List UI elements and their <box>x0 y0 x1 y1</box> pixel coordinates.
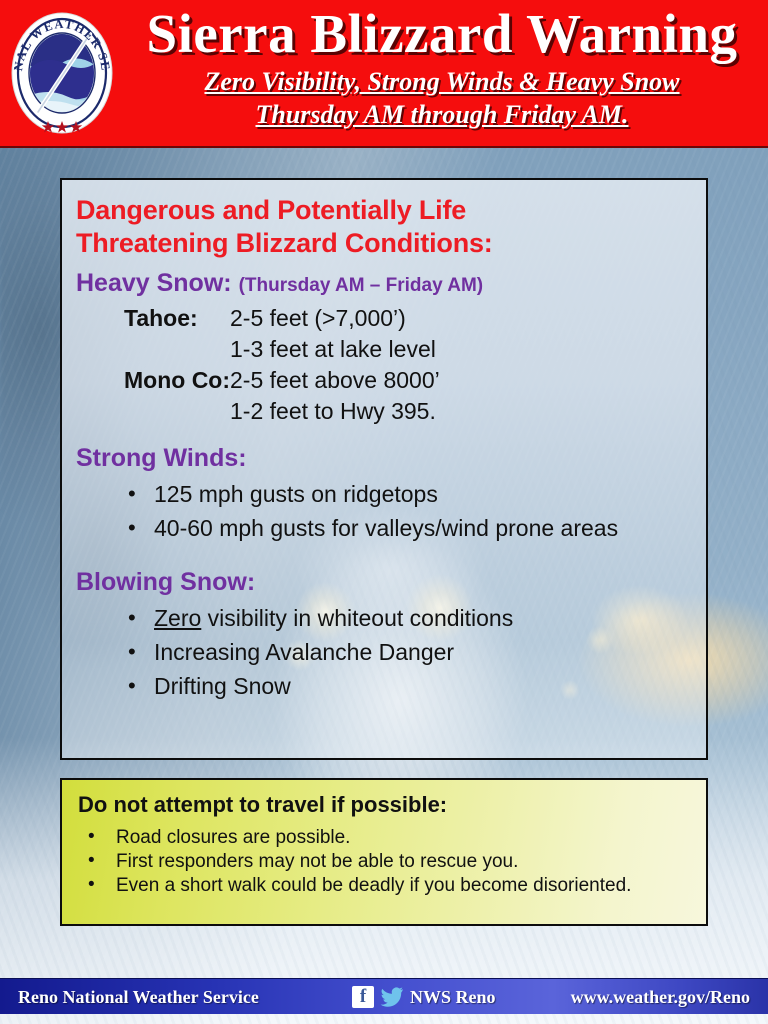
strong-winds-list: 125 mph gusts on ridgetops 40-60 mph gus… <box>128 477 690 545</box>
heavy-snow-timing: (Thursday AM – Friday AM) <box>239 275 484 296</box>
region-value-mono-2: 1-2 feet to Hwy 395. <box>230 396 440 427</box>
title-block: Sierra Blizzard Warning Zero Visibility,… <box>118 2 766 131</box>
travel-advisory-box: Do not attempt to travel if possible: Ro… <box>60 778 708 926</box>
heavy-snow-heading: Heavy Snow: (Thursday AM – Friday AM) <box>76 268 690 301</box>
heavy-snow-label: Heavy Snow: <box>76 269 232 297</box>
blowing-snow-heading: Blowing Snow: <box>76 567 690 597</box>
nws-logo-icon: NATIONAL WEATHER SERVICE <box>8 8 116 138</box>
blowing-snow-list: Zero visibility in whiteout conditions I… <box>128 601 690 703</box>
subtitle-line-1: Zero Visibility, Strong Winds & Heavy Sn… <box>118 66 766 98</box>
list-item: 125 mph gusts on ridgetops <box>128 477 690 511</box>
travel-advisory-list: Road closures are possible. First respon… <box>80 826 692 898</box>
region-value-tahoe-2: 1-3 feet at lake level <box>230 334 440 365</box>
page-title: Sierra Blizzard Warning <box>118 2 766 66</box>
footer-office-name: Reno National Weather Service <box>18 979 259 1015</box>
headline-line-1: Dangerous and Potentially Life <box>76 194 690 227</box>
footer-website-url[interactable]: www.weather.gov/Reno <box>571 979 750 1015</box>
twitter-icon[interactable] <box>380 986 404 1008</box>
region-value-tahoe-1: 2-5 feet (>7,000’) <box>230 303 440 334</box>
facebook-icon[interactable]: f <box>352 986 374 1008</box>
strong-winds-heading: Strong Winds: <box>76 443 690 473</box>
subtitle-line-2: Thursday AM through Friday AM. <box>118 99 766 131</box>
region-value-mono-1: 2-5 feet above 8000’ <box>230 365 440 396</box>
footer-social-label: NWS Reno <box>410 979 496 1015</box>
table-row: 1-3 feet at lake level <box>124 334 440 365</box>
list-item: Drifting Snow <box>128 669 690 703</box>
zero-emphasis: Zero <box>154 605 201 631</box>
list-item: 40-60 mph gusts for valleys/wind prone a… <box>128 511 690 545</box>
list-item: Road closures are possible. <box>80 826 692 850</box>
header-banner: NATIONAL WEATHER SERVICE Sierra Blizzard… <box>0 0 768 148</box>
headline-line-2: Threatening Blizzard Conditions: <box>76 227 690 260</box>
footer-bar: Reno National Weather Service f NWS Reno… <box>0 978 768 1014</box>
list-item: Zero visibility in whiteout conditions <box>128 601 690 635</box>
region-label-spacer-2 <box>124 396 230 427</box>
list-item: Even a short walk could be deadly if you… <box>80 874 692 898</box>
list-item: First responders may not be able to resc… <box>80 850 692 874</box>
main-warning-panel: Dangerous and Potentially Life Threateni… <box>60 178 708 760</box>
region-label-mono: Mono Co: <box>124 365 230 396</box>
snowfall-table: Tahoe: 2-5 feet (>7,000’) 1-3 feet at la… <box>124 303 440 427</box>
region-label-tahoe: Tahoe: <box>124 303 230 334</box>
list-item: Increasing Avalanche Danger <box>128 635 690 669</box>
table-row: 1-2 feet to Hwy 395. <box>124 396 440 427</box>
region-label-spacer-1 <box>124 334 230 365</box>
footer-social-group: f NWS Reno <box>352 979 496 1015</box>
zero-rest: visibility in whiteout conditions <box>201 605 513 631</box>
table-row: Tahoe: 2-5 feet (>7,000’) <box>124 303 440 334</box>
travel-advisory-title: Do not attempt to travel if possible: <box>78 792 692 818</box>
table-row: Mono Co: 2-5 feet above 8000’ <box>124 365 440 396</box>
